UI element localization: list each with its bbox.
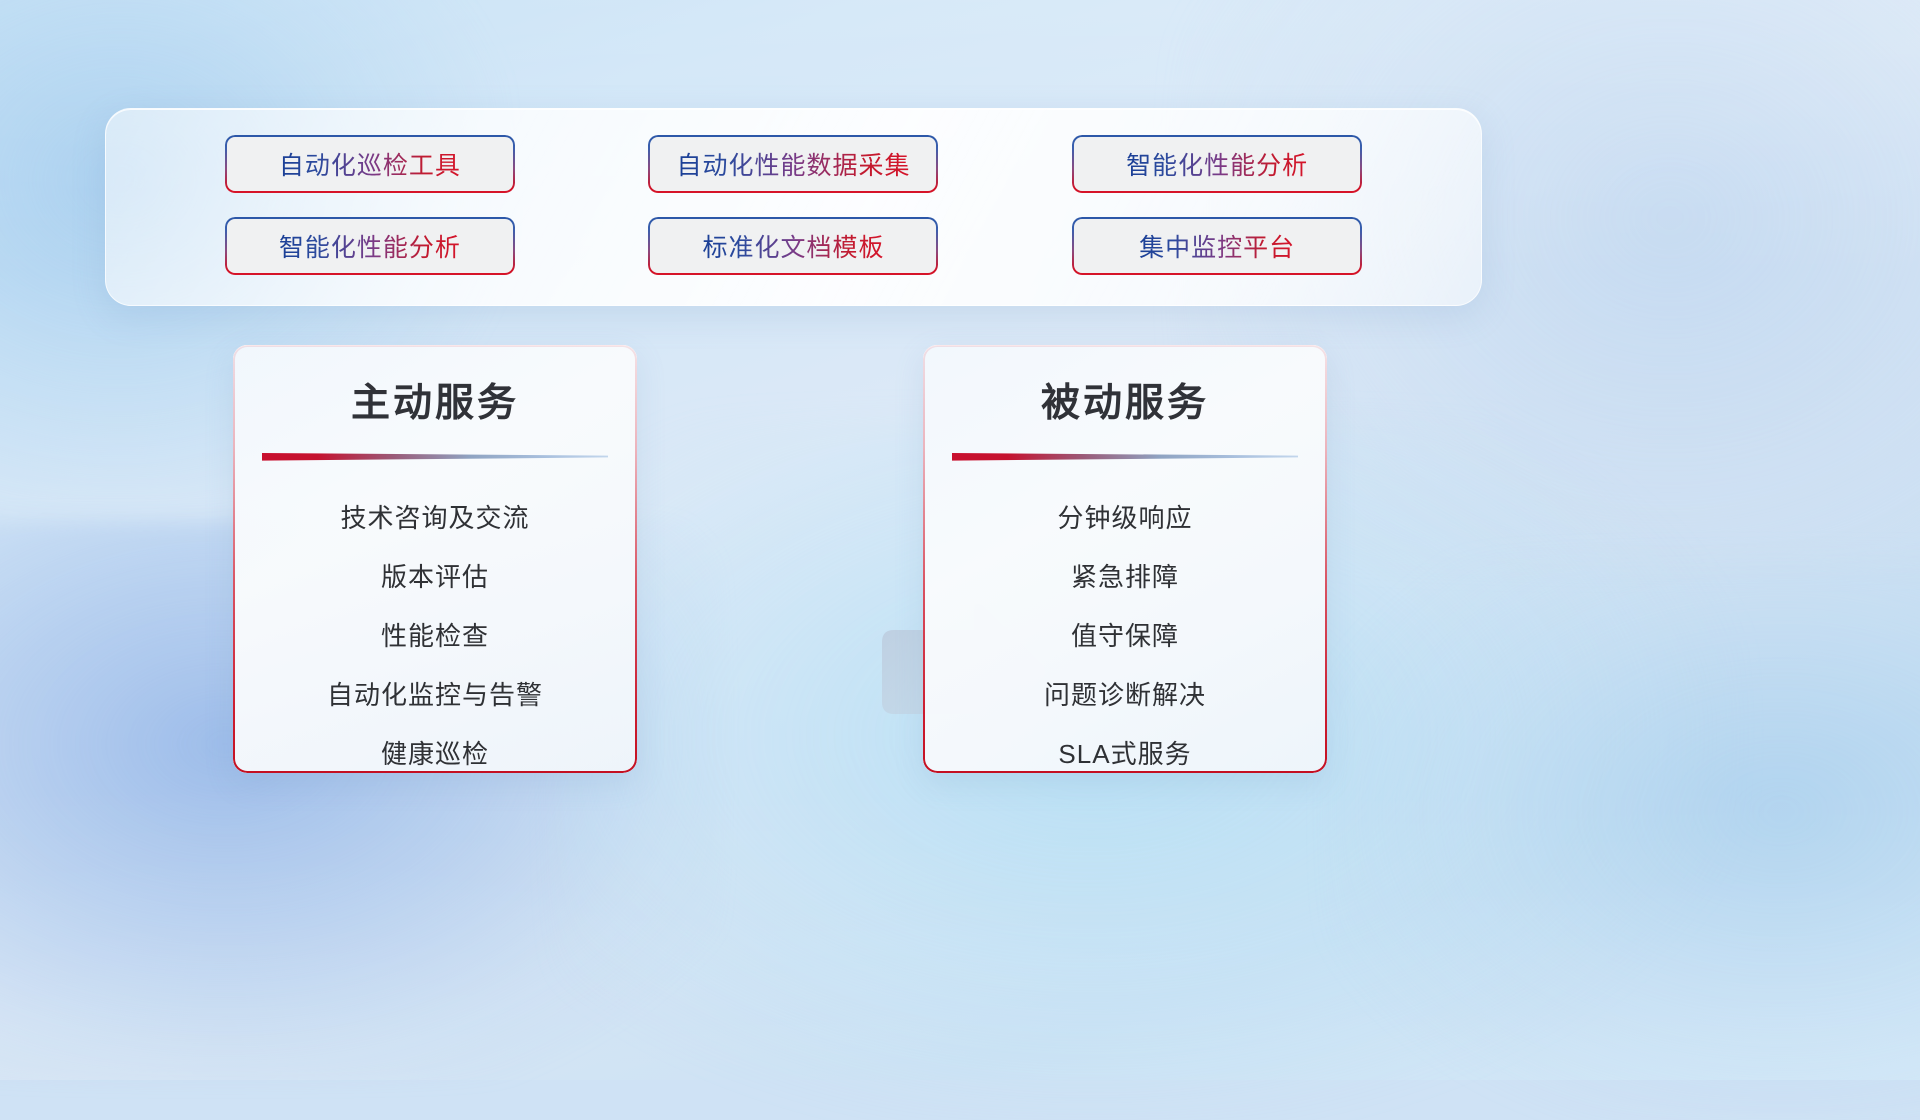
list-item: 值守保障	[1071, 607, 1179, 666]
capability-pill-2[interactable]: 自动化性能数据采集	[648, 135, 938, 193]
capability-pill-label: 标准化文档模板	[702, 228, 884, 264]
capability-pill-1[interactable]: 自动化巡检工具	[225, 135, 515, 193]
service-card-divider	[952, 452, 1298, 461]
list-item: 紧急排障	[1071, 548, 1179, 607]
service-card-title: 主动服务	[233, 372, 637, 428]
service-card-title: 被动服务	[923, 372, 1327, 428]
capability-pill-4[interactable]: 智能化性能分析	[225, 217, 515, 275]
list-item: 性能检查	[381, 607, 489, 666]
capability-pill-label: 智能化性能分析	[279, 228, 461, 264]
capability-pill-3[interactable]: 智能化性能分析	[1072, 135, 1362, 193]
service-card-list: 分钟级响应 紧急排障 值守保障 问题诊断解决 SLA式服务	[923, 489, 1327, 773]
capability-panel: 自动化巡检工具 自动化性能数据采集 智能化性能分析 智能化性能分析 标准化文档模…	[105, 108, 1482, 306]
service-card-passive[interactable]: 被动服务 分钟级响应 紧急排障 值守保障 问题诊断解决 SLA式服务	[923, 345, 1327, 773]
list-item: 健康巡检	[381, 725, 489, 773]
capability-pill-6[interactable]: 集中监控平台	[1072, 217, 1362, 275]
capability-pill-label: 自动化巡检工具	[279, 146, 461, 182]
service-card-active[interactable]: 主动服务 技术咨询及交流 版本评估 性能检查 自动化监控与告警 健康巡检	[233, 345, 637, 773]
list-item: 版本评估	[381, 548, 489, 607]
list-item: SLA式服务	[1058, 725, 1191, 773]
capability-pill-label: 集中监控平台	[1139, 228, 1295, 264]
capability-pill-label: 自动化性能数据采集	[676, 146, 910, 182]
list-item: 技术咨询及交流	[340, 489, 529, 548]
capability-pill-5[interactable]: 标准化文档模板	[648, 217, 938, 275]
service-card-divider	[262, 452, 608, 461]
capability-pill-label: 智能化性能分析	[1126, 146, 1308, 182]
list-item: 分钟级响应	[1057, 489, 1192, 548]
service-card-list: 技术咨询及交流 版本评估 性能检查 自动化监控与告警 健康巡检	[233, 489, 637, 773]
list-item: 问题诊断解决	[1044, 666, 1206, 725]
list-item: 自动化监控与告警	[327, 666, 543, 725]
